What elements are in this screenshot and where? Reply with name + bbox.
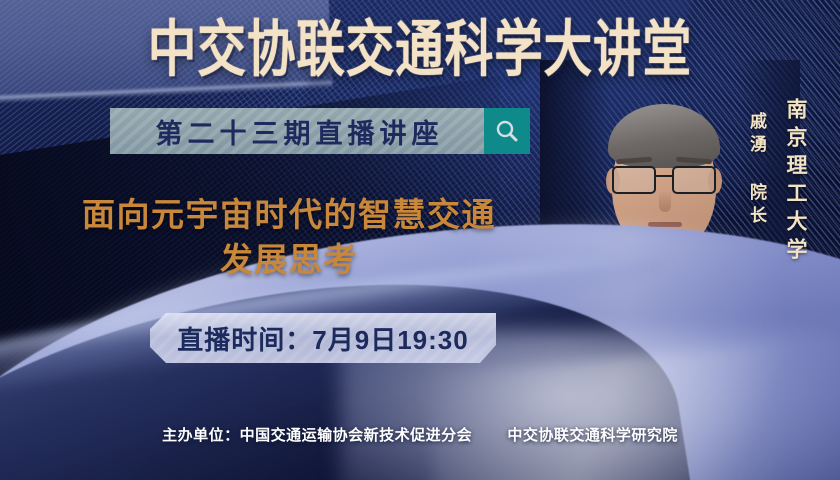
headline-line-2: 发展思考	[34, 237, 544, 282]
webinar-poster: 中交协联交通科学大讲堂 第二十三期直播讲座 面向元宇宙时代的智慧交通 发展思考 …	[0, 0, 840, 480]
search-icon	[494, 118, 520, 144]
lecture-headline: 面向元宇宙时代的智慧交通 发展思考	[34, 192, 544, 282]
footer-organizers: 主办单位：中国交通运输协会新技术促进分会 中交协联交通科学研究院	[0, 424, 840, 445]
footer-institute: 中交协联交通科学研究院	[507, 427, 678, 444]
speaker-organization: 南京理工大学	[780, 98, 810, 266]
broadcast-time-text: 直播时间：7月9日19:30	[177, 320, 468, 357]
page-title: 中交协联交通科学大讲堂	[13, 14, 828, 85]
search-button[interactable]	[484, 108, 530, 154]
headline-line-1: 面向元宇宙时代的智慧交通	[82, 196, 496, 233]
footer-organizer-label: 主办单位：中国交通运输协会新技术促进分会	[162, 427, 472, 444]
speaker-name-title: 戚湧 院长	[744, 112, 769, 229]
subtitle-label: 第二十三期直播讲座	[151, 112, 444, 151]
subtitle-banner: 第二十三期直播讲座	[110, 108, 530, 154]
broadcast-time-banner: 直播时间：7月9日19:30	[150, 313, 496, 363]
subtitle-strip: 第二十三期直播讲座	[110, 108, 484, 154]
